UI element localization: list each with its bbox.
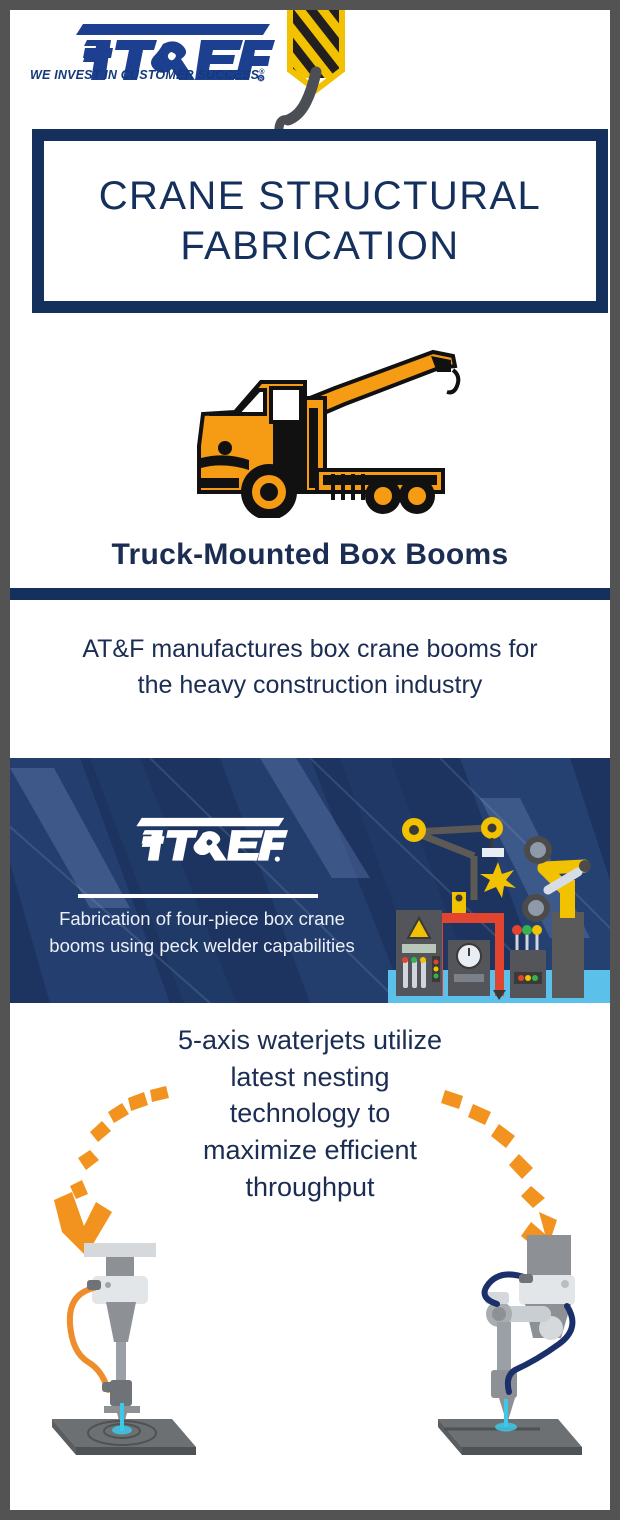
five-axis-waterjet-arm-illustration xyxy=(415,1080,610,1425)
atf-logo: R xyxy=(65,22,275,102)
white-rule-divider xyxy=(78,894,318,898)
atf-logo-white xyxy=(128,814,288,866)
page-title-line1: CRANE STRUCTURAL xyxy=(99,174,541,218)
tagline-text: WE INVEST IN CUSTOMER SUCCESS xyxy=(30,68,259,82)
crane-truck-illustration xyxy=(185,342,465,518)
cut-plate-right xyxy=(420,1395,600,1465)
header: R WE INVEST IN CUSTOMER SUCCESS® xyxy=(10,10,610,115)
curved-arrow-down-left xyxy=(54,1086,169,1256)
infographic-canvas: R WE INVEST IN CUSTOMER SUCCESS® xyxy=(10,10,610,1510)
company-tagline: WE INVEST IN CUSTOMER SUCCESS® xyxy=(30,68,278,82)
truck-section-paragraph: AT&F manufactures box crane booms for th… xyxy=(70,632,550,703)
robotic-welding-factory-illustration xyxy=(388,800,610,1003)
blue-band-caption: Fabrication of four-piece box crane boom… xyxy=(32,906,372,960)
curved-arrow-down-right xyxy=(441,1090,557,1256)
cut-plate-left xyxy=(30,1395,210,1465)
page-title-line2: FABRICATION xyxy=(180,224,459,268)
main-title-box: CRANE STRUCTURAL FABRICATION xyxy=(32,129,608,313)
main-title-inner-frame: CRANE STRUCTURAL FABRICATION xyxy=(44,141,596,301)
section-divider-bar xyxy=(10,588,610,600)
section-heading-truck-mounted: Truck-Mounted Box Booms xyxy=(10,538,610,572)
waterjet-cutting-head-illustration xyxy=(32,1080,217,1425)
page-title: CRANE STRUCTURAL FABRICATION xyxy=(89,171,551,271)
blue-feature-band: Fabrication of four-piece box crane boom… xyxy=(10,758,610,1003)
